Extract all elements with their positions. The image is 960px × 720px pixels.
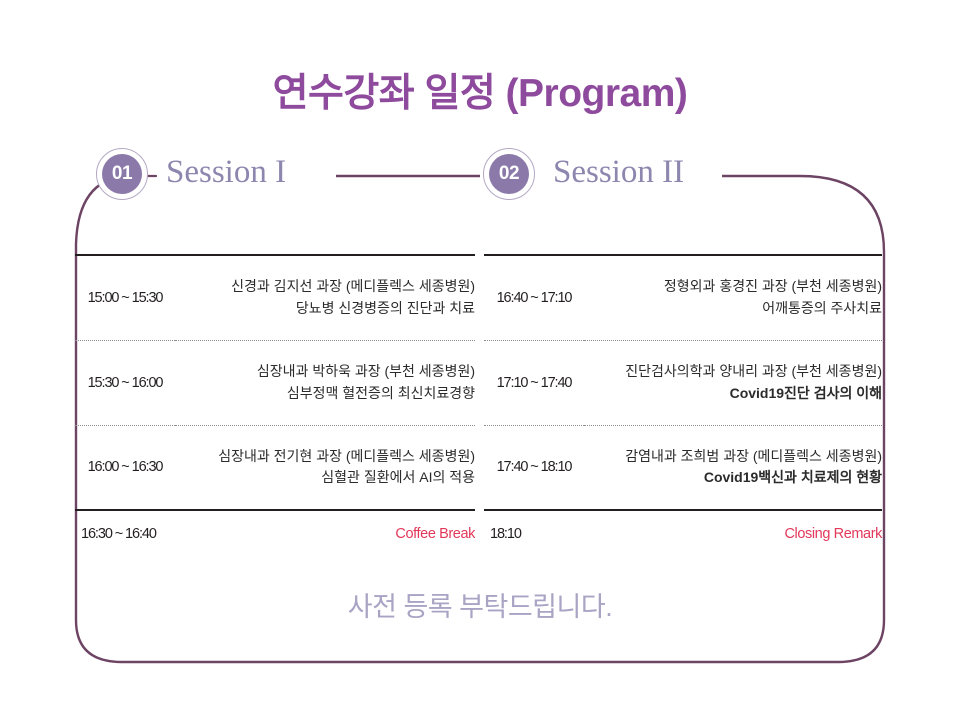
session-badge-2: 02 (483, 148, 535, 200)
cell-content: 감염내과 조희범 과장 (메디플렉스 세종병원) Covid19백신과 치료제의… (584, 425, 882, 510)
cell-time: 16:40 ~ 17:10 (484, 255, 584, 340)
cell-content: 심장내과 전기현 과장 (메디플렉스 세종병원) 심혈관 질환에서 AI의 적용 (175, 425, 475, 510)
program-table-session-1: 15:00 ~ 15:30 신경과 김지선 과장 (메디플렉스 세종병원) 당뇨… (75, 254, 475, 556)
closing-label: Closing Remark (584, 510, 882, 556)
talk-speaker: 정형외과 홍경진 과장 (부천 세종병원) (584, 276, 882, 298)
cell-time: 17:10 ~ 17:40 (484, 340, 584, 425)
cell-content: 정형외과 홍경진 과장 (부천 세종병원) 어깨통증의 주사치료 (584, 255, 882, 340)
session-badge-2-number: 02 (489, 154, 529, 194)
table-row: 17:10 ~ 17:40 진단검사의학과 양내리 과장 (부천 세종병원) C… (484, 340, 882, 425)
talk-speaker: 신경과 김지선 과장 (메디플렉스 세종병원) (175, 276, 475, 298)
cell-time-note: 18:10 (484, 510, 584, 556)
cell-content: 심장내과 박하욱 과장 (부천 세종병원) 심부정맥 혈전증의 최신치료경향 (175, 340, 475, 425)
cell-content: 신경과 김지선 과장 (메디플렉스 세종병원) 당뇨병 신경병증의 진단과 치료 (175, 255, 475, 340)
talk-speaker: 진단검사의학과 양내리 과장 (부천 세종병원) (584, 361, 882, 383)
table-row: 15:00 ~ 15:30 신경과 김지선 과장 (메디플렉스 세종병원) 당뇨… (75, 255, 475, 340)
talk-topic: 당뇨병 신경병증의 진단과 치료 (175, 298, 475, 320)
cell-time: 15:30 ~ 16:00 (75, 340, 175, 425)
talk-topic: 심부정맥 혈전증의 최신치료경향 (175, 383, 475, 405)
break-label: Coffee Break (175, 510, 475, 556)
table: 15:00 ~ 15:30 신경과 김지선 과장 (메디플렉스 세종병원) 당뇨… (75, 254, 475, 556)
session-header-1: 01 Session I (96, 146, 286, 202)
table-row: 15:30 ~ 16:00 심장내과 박하욱 과장 (부천 세종병원) 심부정맥… (75, 340, 475, 425)
program-table-session-2: 16:40 ~ 17:10 정형외과 홍경진 과장 (부천 세종병원) 어깨통증… (484, 254, 882, 556)
cell-time: 17:40 ~ 18:10 (484, 425, 584, 510)
table-row: 17:40 ~ 18:10 감염내과 조희범 과장 (메디플렉스 세종병원) C… (484, 425, 882, 510)
talk-speaker: 감염내과 조희범 과장 (메디플렉스 세종병원) (584, 446, 882, 468)
session-badge-1-number: 01 (102, 154, 142, 194)
cell-time: 15:00 ~ 15:30 (75, 255, 175, 340)
table-row-note: 18:10 Closing Remark (484, 510, 882, 556)
registration-note: 사전 등록 부탁드립니다. (0, 585, 960, 624)
session-badge-1: 01 (96, 148, 148, 200)
talk-speaker: 심장내과 전기현 과장 (메디플렉스 세종병원) (175, 446, 475, 468)
cell-time: 16:00 ~ 16:30 (75, 425, 175, 510)
session-header-2: 02 Session II (483, 146, 684, 202)
frame-bottom-edge (76, 620, 884, 662)
session-title-1: Session I (166, 156, 286, 193)
table-row-note: 16:30 ~ 16:40 Coffee Break (75, 510, 475, 556)
talk-speaker: 심장내과 박하욱 과장 (부천 세종병원) (175, 361, 475, 383)
talk-topic: Covid19백신과 치료제의 현황 (584, 467, 882, 489)
cell-time-note: 16:30 ~ 16:40 (75, 510, 175, 556)
talk-topic: 어깨통증의 주사치료 (584, 298, 882, 320)
table-row: 16:40 ~ 17:10 정형외과 홍경진 과장 (부천 세종병원) 어깨통증… (484, 255, 882, 340)
table: 16:40 ~ 17:10 정형외과 홍경진 과장 (부천 세종병원) 어깨통증… (484, 254, 882, 556)
talk-topic: 심혈관 질환에서 AI의 적용 (175, 467, 475, 489)
table-row: 16:00 ~ 16:30 심장내과 전기현 과장 (메디플렉스 세종병원) 심… (75, 425, 475, 510)
talk-topic: Covid19진단 검사의 이해 (584, 383, 882, 405)
session-title-2: Session II (553, 156, 684, 193)
page-title: 연수강좌 일정 (Program) (0, 62, 960, 118)
cell-content: 진단검사의학과 양내리 과장 (부천 세종병원) Covid19진단 검사의 이… (584, 340, 882, 425)
